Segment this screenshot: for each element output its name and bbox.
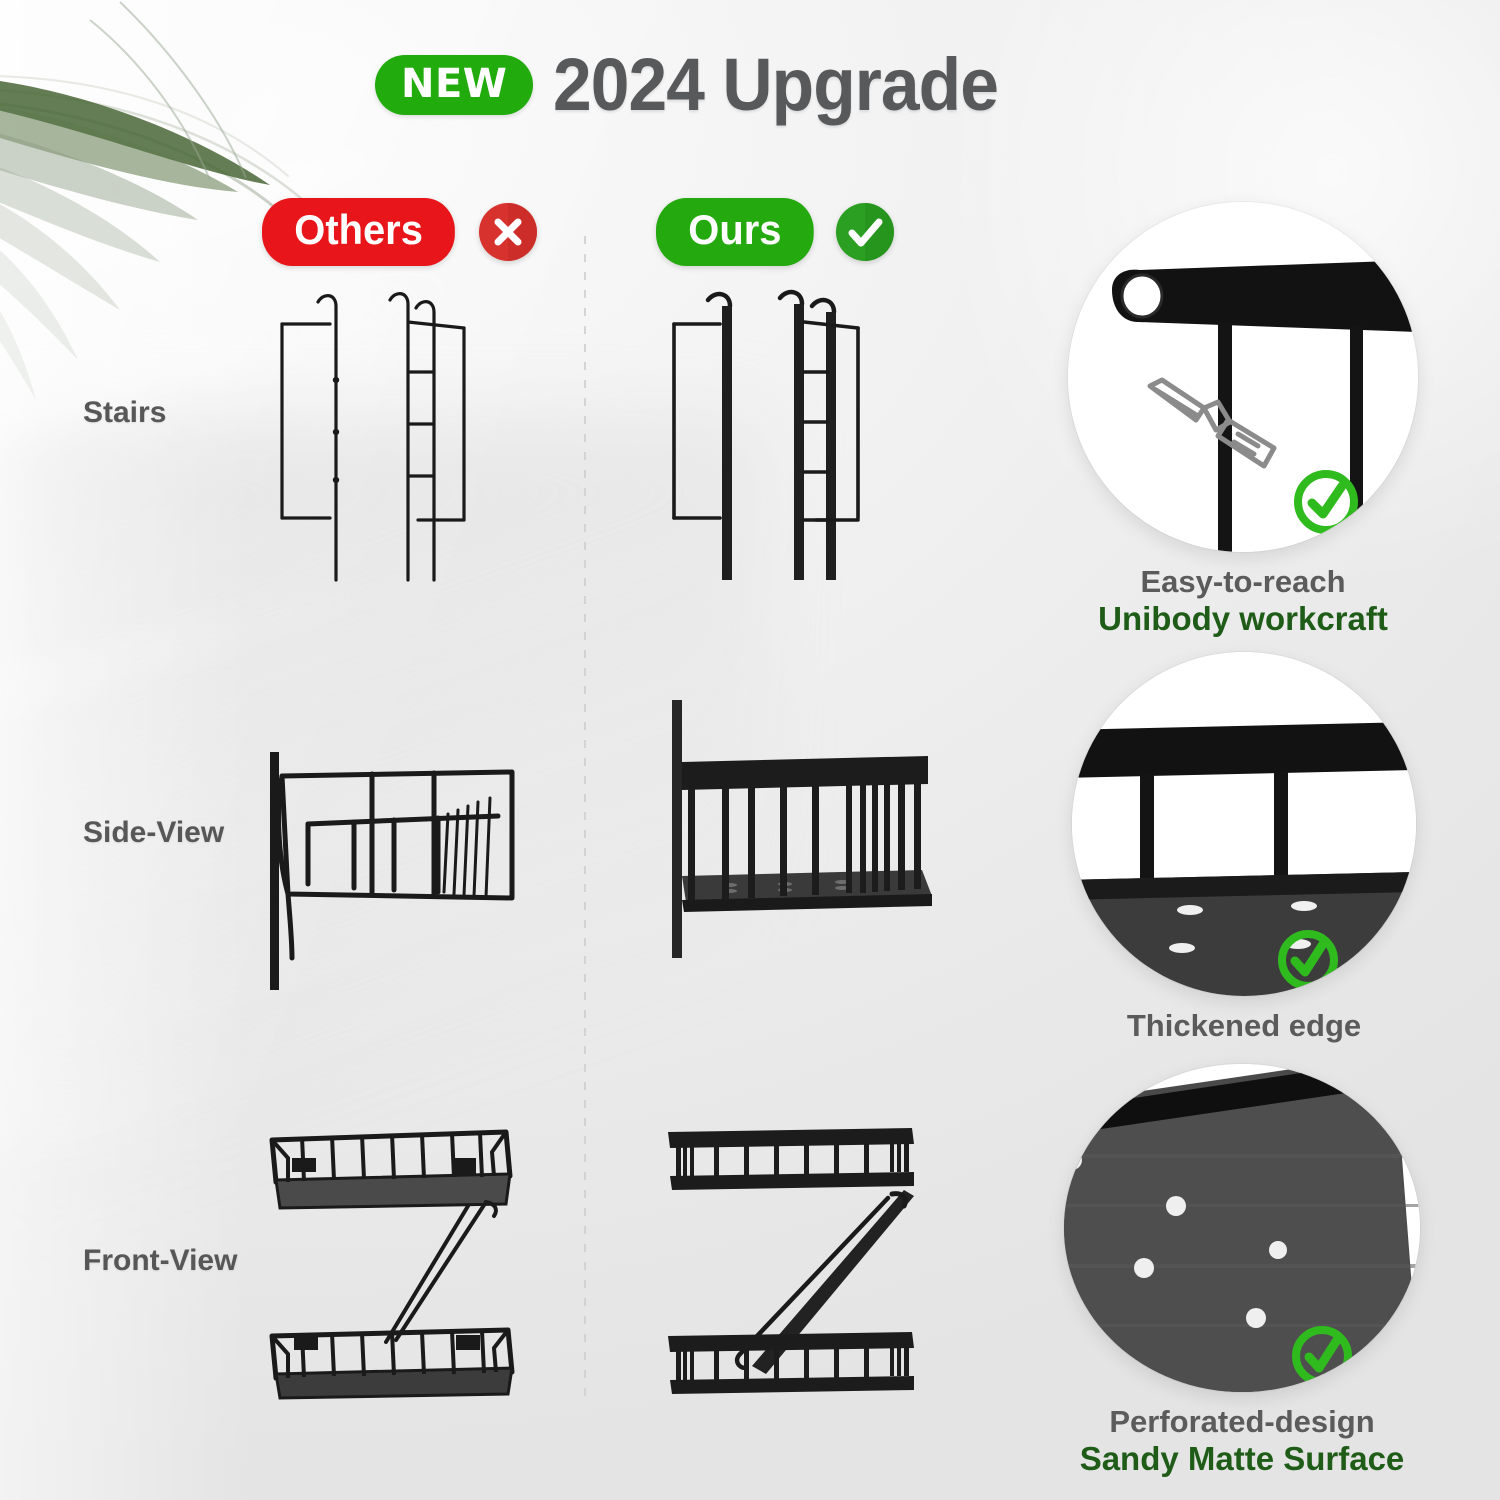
feature-caption-top: Thickened edge	[1072, 1008, 1416, 1044]
feature-caption-bottom: Unibody workcraft	[1068, 600, 1418, 638]
row-label-side-view: Side-View	[83, 816, 224, 850]
ours-column-header: Ours	[656, 198, 894, 266]
cross-icon	[479, 203, 537, 261]
others-column-header: Others	[262, 198, 537, 266]
illustration-others-side-view	[262, 748, 552, 998]
illustration-others-front-view	[258, 1118, 548, 1398]
illustration-ours-stairs	[660, 280, 890, 580]
illustration-ours-side-view	[660, 700, 960, 970]
row-label-front-view: Front-View	[83, 1244, 237, 1278]
thickened-edge-closeup	[1072, 652, 1416, 996]
feature-caption: Easy-to-reach Unibody workcraft	[1068, 564, 1418, 638]
feature-easy-to-reach: Easy-to-reach Unibody workcraft	[1068, 202, 1418, 638]
perforated-matte-surface-closeup	[1064, 1064, 1420, 1392]
feature-thickened-edge: Thickened edge	[1072, 652, 1416, 1044]
feature-caption-top: Easy-to-reach	[1068, 564, 1418, 600]
illustration-others-stairs	[268, 280, 498, 580]
feature-caption-bottom: Sandy Matte Surface	[1064, 1440, 1420, 1478]
ours-pill: Ours	[656, 198, 814, 266]
others-pill: Others	[262, 198, 455, 266]
check-icon	[836, 203, 894, 261]
feature-caption: Thickened edge	[1072, 1008, 1416, 1044]
column-divider	[584, 236, 586, 1406]
row-label-stairs: Stairs	[83, 396, 166, 430]
illustration-ours-front-view	[656, 1118, 946, 1398]
feature-perforated-design: Perforated-design Sandy Matte Surface	[1064, 1064, 1420, 1478]
header: NEW 2024 Upgrade	[375, 48, 1027, 122]
feature-caption: Perforated-design Sandy Matte Surface	[1064, 1404, 1420, 1478]
page-title: 2024 Upgrade	[553, 48, 998, 122]
feature-caption-top: Perforated-design	[1064, 1404, 1420, 1440]
infographic-canvas: NEW 2024 Upgrade Others Ours Stairs Side…	[0, 0, 1500, 1500]
new-badge: NEW	[375, 55, 533, 115]
bracket-screw-hole-closeup	[1068, 202, 1418, 552]
